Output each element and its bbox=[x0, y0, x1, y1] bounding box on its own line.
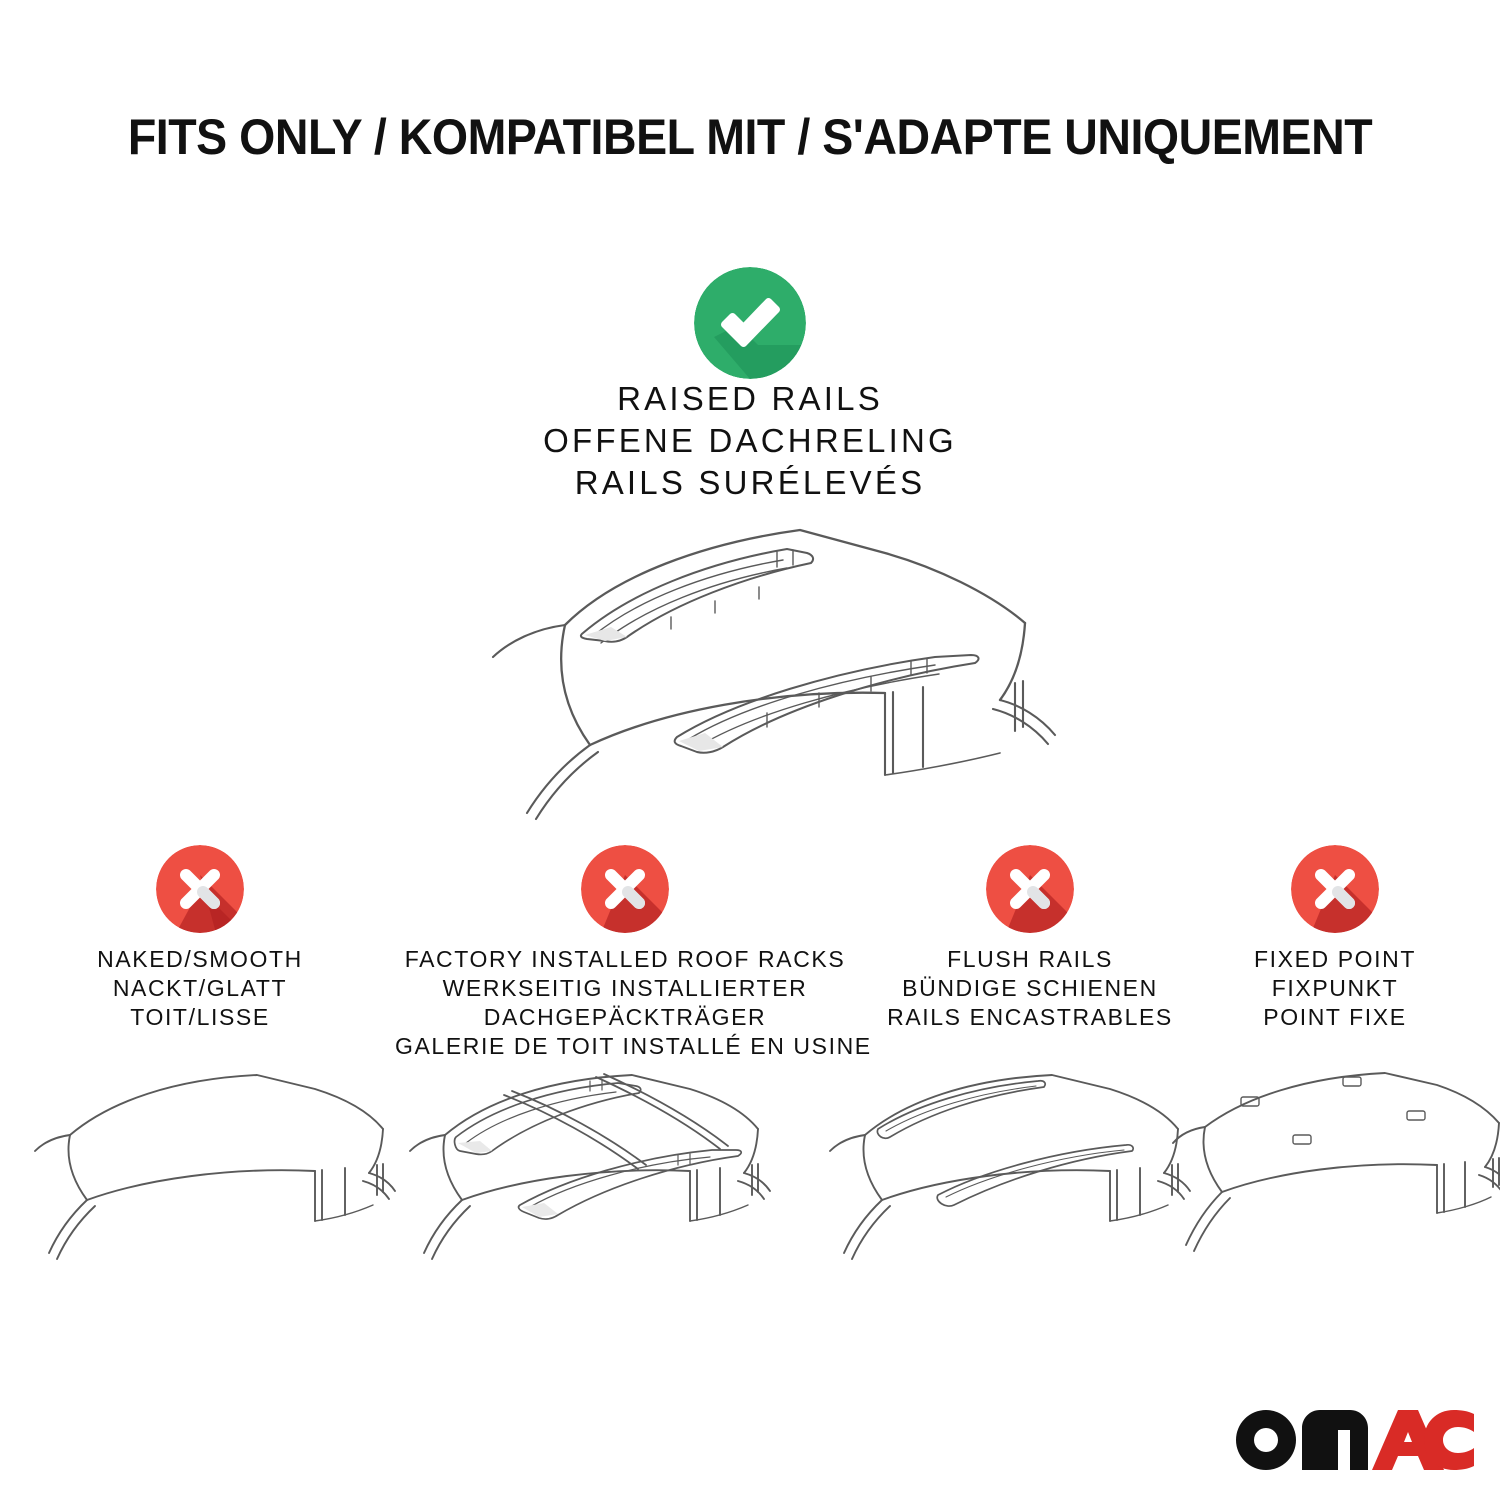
incompatible-label-en: FLUSH RAILS bbox=[860, 945, 1200, 974]
omac-logo-letter-m bbox=[1302, 1410, 1368, 1470]
car-roof-fixed-point-illustration bbox=[1165, 1055, 1500, 1305]
compatible-labels: RAISED RAILS OFFENE DACHRELING RAILS SUR… bbox=[0, 378, 1500, 504]
incompatible-label-fr: RAILS ENCASTRABLES bbox=[860, 1003, 1200, 1032]
incompatible-label-en: FACTORY INSTALLED ROOF RACKS bbox=[395, 945, 855, 974]
compatible-label-fr: RAILS SURÉLEVÉS bbox=[0, 462, 1500, 504]
incompatible-label-de: NACKT/GLATT bbox=[20, 974, 380, 1003]
check-circle-icon bbox=[694, 267, 806, 379]
incompatible-label-de-2: DACHGEPÄCKTRÄGER bbox=[395, 1003, 855, 1032]
car-roof-raised-rails-illustration bbox=[415, 505, 1085, 825]
incompatible-label-de: BÜNDIGE SCHIENEN bbox=[860, 974, 1200, 1003]
incompatible-labels: FIXED POINT FIXPUNKT POINT FIXE bbox=[1205, 945, 1465, 1032]
car-roof-naked-smooth-illustration bbox=[25, 1055, 400, 1305]
incompatible-labels: NAKED/SMOOTH NACKT/GLATT TOIT/LISSE bbox=[20, 945, 380, 1032]
cross-circle-icon bbox=[581, 845, 669, 933]
incompatible-label-en: FIXED POINT bbox=[1205, 945, 1465, 974]
incompatible-labels: FLUSH RAILS BÜNDIGE SCHIENEN RAILS ENCAS… bbox=[860, 945, 1200, 1032]
compatible-label-de: OFFENE DACHRELING bbox=[0, 420, 1500, 462]
page-title: FITS ONLY / KOMPATIBEL MIT / S'ADAPTE UN… bbox=[53, 108, 1448, 166]
cross-circle-icon bbox=[1291, 845, 1379, 933]
compatible-label-en: RAISED RAILS bbox=[0, 378, 1500, 420]
incompatible-label-fr: POINT FIXE bbox=[1205, 1003, 1465, 1032]
incompatible-label-en: NAKED/SMOOTH bbox=[20, 945, 380, 974]
incompatible-label-de: FIXPUNKT bbox=[1205, 974, 1465, 1003]
cross-circle-icon bbox=[986, 845, 1074, 933]
fitment-infographic: FITS ONLY / KOMPATIBEL MIT / S'ADAPTE UN… bbox=[0, 0, 1500, 1500]
incompatible-label-fr: TOIT/LISSE bbox=[20, 1003, 380, 1032]
cross-circle-icon bbox=[156, 845, 244, 933]
omac-logo-letter-o bbox=[1236, 1410, 1296, 1470]
omac-logo bbox=[1232, 1406, 1474, 1478]
car-roof-factory-racks-illustration bbox=[400, 1055, 775, 1305]
car-roof-flush-rails-illustration bbox=[820, 1055, 1195, 1305]
incompatible-labels: FACTORY INSTALLED ROOF RACKS WERKSEITIG … bbox=[395, 945, 855, 1061]
incompatible-label-de-1: WERKSEITIG INSTALLIERTER bbox=[395, 974, 855, 1003]
